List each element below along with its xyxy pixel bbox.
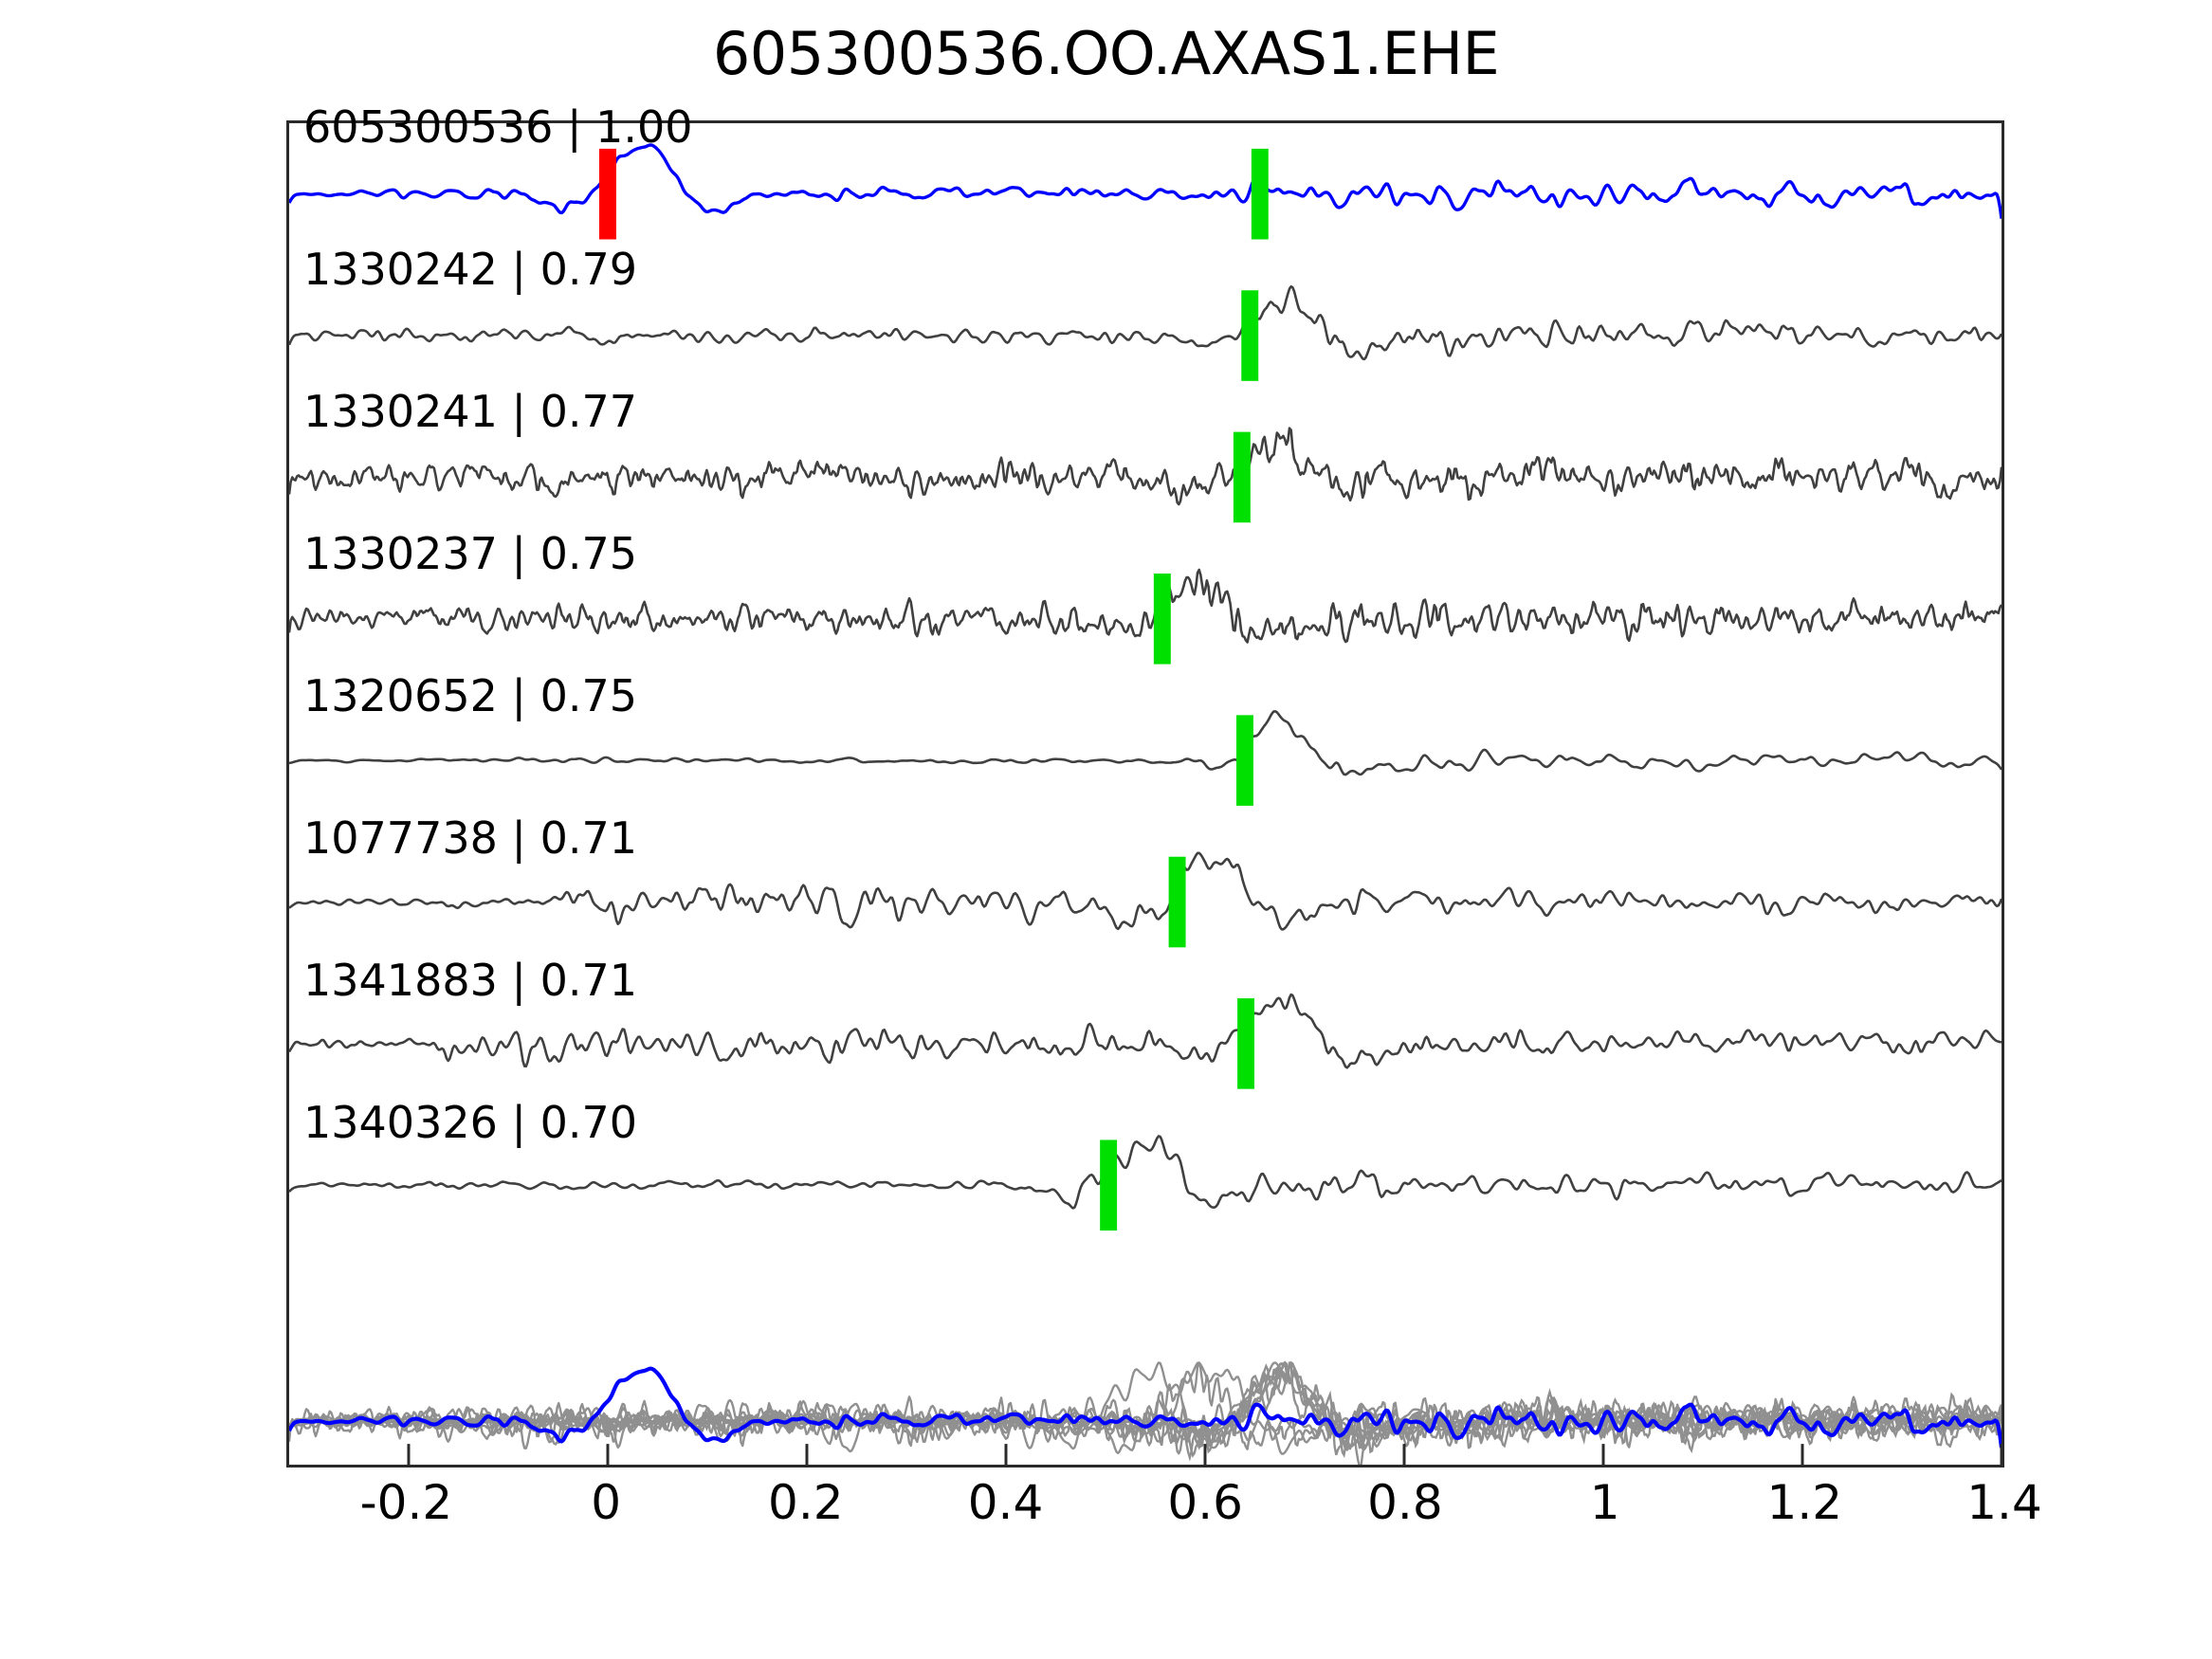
overlay-stack-panel xyxy=(289,1362,2002,1465)
phase-pick-marker xyxy=(1234,432,1251,523)
phase-pick-marker xyxy=(1236,715,1253,806)
trace-line xyxy=(289,286,2002,359)
template-pick-marker xyxy=(599,149,616,240)
waveform-trace-605300536 xyxy=(289,145,2002,240)
x-tick-label: 0 xyxy=(591,1475,621,1530)
trace-line xyxy=(289,994,2002,1067)
phase-pick-marker xyxy=(1237,998,1254,1089)
trace-line xyxy=(289,853,2002,930)
trace-line xyxy=(289,145,2002,219)
phase-pick-marker xyxy=(1169,857,1186,948)
waveform-trace-1330237 xyxy=(289,570,2002,665)
x-tick-label: 0.4 xyxy=(968,1475,1044,1530)
trace-line xyxy=(289,428,2002,504)
phase-pick-marker xyxy=(1241,290,1258,381)
waveform-figure: 605300536.OO.AXAS1.EHE 605300536 | 1.001… xyxy=(0,0,2212,1659)
trace-line xyxy=(289,570,2002,642)
phase-pick-marker xyxy=(1252,149,1269,240)
phase-pick-marker xyxy=(1100,1139,1117,1231)
x-tick-label: 1.2 xyxy=(1767,1475,1843,1530)
waveform-trace-1340326 xyxy=(289,1136,2002,1231)
x-tick-label: 0.2 xyxy=(768,1475,844,1530)
trace-line xyxy=(289,1136,2002,1208)
x-tick-label: 0.6 xyxy=(1167,1475,1243,1530)
waveform-canvas xyxy=(289,123,2002,1465)
x-axis-tick-labels: -0.200.20.40.60.811.21.4 xyxy=(286,1475,2004,1541)
x-tick-label: 0.8 xyxy=(1367,1475,1443,1530)
phase-pick-marker xyxy=(1154,574,1171,665)
waveform-trace-1320652 xyxy=(289,711,2002,806)
x-axis-ticks xyxy=(409,1444,2002,1465)
waveform-trace-1077738 xyxy=(289,853,2002,948)
x-tick-label: 1 xyxy=(1590,1475,1620,1530)
x-tick-label: 1.4 xyxy=(1966,1475,2042,1530)
plot-area xyxy=(286,120,2004,1468)
waveform-trace-1330242 xyxy=(289,286,2002,381)
waveform-trace-1330241 xyxy=(289,428,2002,523)
trace-line xyxy=(289,711,2002,775)
page-title: 605300536.OO.AXAS1.EHE xyxy=(0,19,2212,88)
x-tick-label: -0.2 xyxy=(360,1475,453,1530)
waveform-trace-1341883 xyxy=(289,994,2002,1089)
